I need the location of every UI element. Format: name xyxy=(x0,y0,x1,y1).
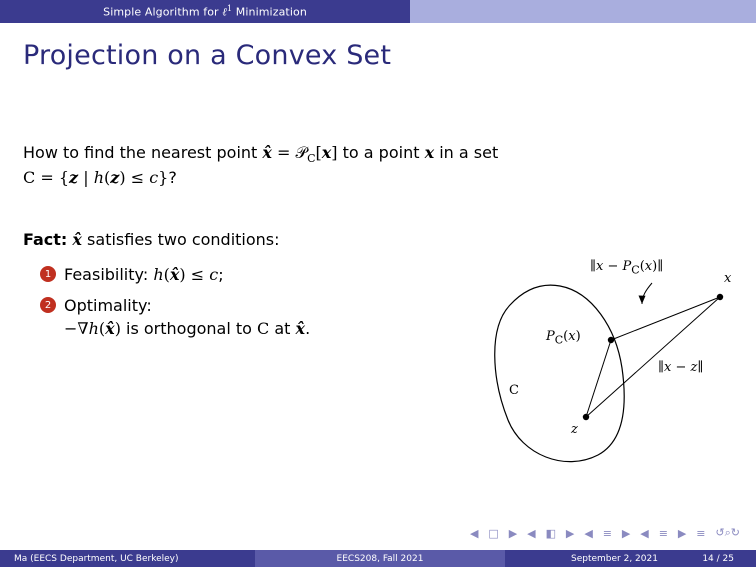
item-2-label: Optimality: xyxy=(64,296,152,315)
question-text-c: in a set xyxy=(434,143,498,162)
pcx-P: P xyxy=(546,329,555,344)
math-equals: = xyxy=(277,143,290,162)
leq: ≤ xyxy=(131,168,144,187)
norm-sub-C: C xyxy=(631,264,639,277)
pcx-sub-C: C xyxy=(555,334,563,347)
norm2-x: x xyxy=(664,360,671,375)
nav-icon-prev-4[interactable]: ◀ xyxy=(640,527,648,540)
list-item: 1 Feasibility: h(x̂) ≤ c; xyxy=(40,263,470,286)
label-x-text: x xyxy=(724,271,731,286)
item1-c: c xyxy=(209,265,218,284)
nav-icon-next-4[interactable]: ▶ xyxy=(678,527,686,540)
footer-bar: Ma (EECS Department, UC Berkeley) EECS20… xyxy=(0,550,756,567)
fact-line: Fact: x̂ satisfies two conditions: xyxy=(23,230,280,249)
item2-xhat: x̂ xyxy=(105,319,115,338)
norm-minus1: − xyxy=(608,259,619,274)
item-1-label: Feasibility: xyxy=(64,265,148,284)
footer-course: EECS208, Fall 2021 xyxy=(255,550,505,567)
nav-icon-zoom-group[interactable]: ↺⌕↻ xyxy=(715,526,740,540)
math-projection: 𝒫 xyxy=(296,143,308,162)
nav-icon-prev-3[interactable]: ◀ xyxy=(584,527,592,540)
question-line-2: C = {z | h(z) ≤ c}? xyxy=(23,168,177,187)
label-norm-x-minus-pcx: ∥x − PC(x)∥ xyxy=(590,259,663,277)
projection-figure: ∥x − PC(x)∥ x PC(x) ∥x − z∥ C z xyxy=(470,250,750,480)
norm-P: P xyxy=(623,259,632,274)
item1-semicolon: ; xyxy=(218,265,223,284)
label-z-text: z xyxy=(571,422,578,437)
fact-text: satisfies two conditions: xyxy=(82,230,280,249)
question-text-a: How to find the nearest point xyxy=(23,143,262,162)
math-xhat: x̂ xyxy=(262,143,272,162)
nav-icon-square[interactable]: □ xyxy=(488,527,498,540)
bullet-number-2: 2 xyxy=(40,297,56,313)
navigation-controls[interactable]: ◀ □ ▶ ◀ ◧ ▶ ◀ ≡ ▶ ◀ ≡ ▶ ≡ ↺⌕↻ xyxy=(470,525,740,541)
nav-icon-lines-1[interactable]: ≡ xyxy=(603,527,612,540)
figure-svg xyxy=(470,250,750,480)
item-2-sub: −∇h(x̂) is orthogonal to C at x̂. xyxy=(64,317,470,340)
item2-h: h xyxy=(89,319,99,338)
math-x2: x xyxy=(425,143,435,162)
nav-icon-next-1[interactable]: ▶ xyxy=(509,527,517,540)
qmark: ? xyxy=(168,168,177,187)
slide: Simple Algorithm for ℓ1 Minimization Pro… xyxy=(0,0,756,567)
fact-xhat: x̂ xyxy=(72,230,82,249)
line-x-to-z xyxy=(586,297,720,417)
conditions-list: 1 Feasibility: h(x̂) ≤ c; 2 Optimality: … xyxy=(40,263,470,348)
nav-icon-prev-1[interactable]: ◀ xyxy=(470,527,478,540)
nav-icon-prev-2[interactable]: ◀ xyxy=(527,527,535,540)
point-z xyxy=(583,414,589,420)
pcx-x: x xyxy=(568,329,575,344)
header-bar: Simple Algorithm for ℓ1 Minimization xyxy=(0,0,756,23)
label-c: C xyxy=(509,383,519,398)
math-sub-c: C xyxy=(307,152,315,165)
nav-icon-next-3[interactable]: ▶ xyxy=(622,527,630,540)
line-x-to-proj xyxy=(611,297,720,340)
nav-icon-lines-2[interactable]: ≡ xyxy=(659,527,668,540)
arrow-head xyxy=(639,296,646,305)
eq2: = xyxy=(40,168,53,187)
bullet-number-1: 1 xyxy=(40,266,56,282)
nav-icon-lines-3[interactable]: ≡ xyxy=(696,527,705,540)
item1-paren-close: ) xyxy=(179,265,185,284)
math-c: c xyxy=(149,168,158,187)
paren-close: ) xyxy=(119,168,125,187)
item1-xhat: x̂ xyxy=(170,265,180,284)
label-x: x xyxy=(724,271,731,286)
item2-paren-close: ) xyxy=(115,319,121,338)
norm-x1: x xyxy=(596,259,603,274)
set-c: C xyxy=(23,168,35,187)
item2-setc: C xyxy=(257,319,269,338)
header-title: Simple Algorithm for ℓ1 Minimization xyxy=(103,4,307,19)
math-z: z xyxy=(69,168,78,187)
list-item: 2 Optimality: −∇h(x̂) is orthogonal to C… xyxy=(40,294,470,340)
footer-author: Ma (EECS Department, UC Berkeley) xyxy=(0,550,255,567)
pcx-paren-c: ) xyxy=(576,329,581,344)
question-line-1: How to find the nearest point x̂ = 𝒫C[x]… xyxy=(23,140,663,171)
point-projection xyxy=(608,337,614,343)
label-norm-x-minus-z: ∥x − z∥ xyxy=(658,360,703,375)
math-z2: z xyxy=(110,168,119,187)
item1-leq: ≤ xyxy=(191,265,204,284)
footer-page: 14 / 25 xyxy=(702,554,734,564)
minus-grad: −∇ xyxy=(64,319,89,338)
norm2-bar-r: ∥ xyxy=(697,360,703,375)
nav-icon-frame[interactable]: ◧ xyxy=(546,527,556,540)
header-title-block: Simple Algorithm for ℓ1 Minimization xyxy=(0,0,410,23)
annotation-arrow xyxy=(642,283,652,304)
item-1-math: h xyxy=(153,265,163,284)
footer-right: September 2, 2021 14 / 25 xyxy=(505,550,756,567)
label-pcx: PC(x) xyxy=(546,329,581,347)
nav-icon-next-2[interactable]: ▶ xyxy=(566,527,574,540)
page-title: Projection on a Convex Set xyxy=(23,40,391,71)
brace-close: } xyxy=(158,168,168,187)
norm2-minus: − xyxy=(676,360,687,375)
math-h: h xyxy=(94,168,104,187)
point-x xyxy=(717,294,723,300)
footer-date: September 2, 2021 xyxy=(571,554,658,564)
bar: | xyxy=(83,168,88,187)
norm-bar-r1: ∥ xyxy=(657,259,663,274)
label-c-text: C xyxy=(509,383,519,398)
math-x: x xyxy=(322,143,332,162)
question-text-b: to a point xyxy=(338,143,425,162)
label-z: z xyxy=(571,422,578,437)
item2-xhat2: x̂ xyxy=(296,319,306,338)
convex-set-outline xyxy=(495,285,624,462)
fact-label: Fact: xyxy=(23,230,67,249)
brace-open: { xyxy=(59,168,69,187)
